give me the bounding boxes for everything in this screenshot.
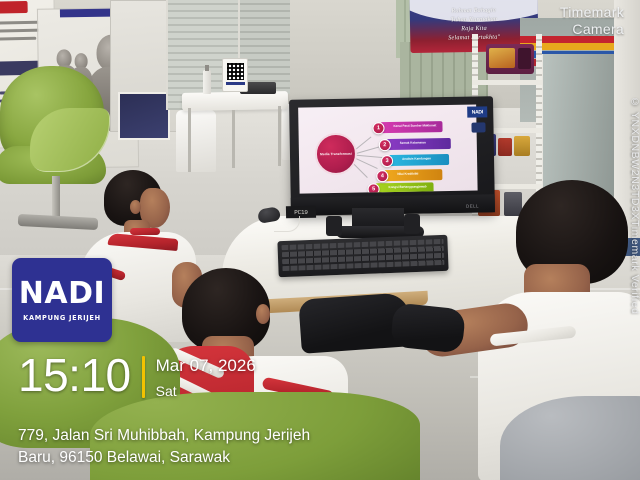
diagram-connector	[355, 155, 383, 158]
photo-scene: Rahmat Bahagia Tuhan Kurniakan Raja Kita…	[0, 0, 640, 480]
verified-label: Timemark Verified	[629, 220, 640, 314]
screenshot-root: Rahmat Bahagia Tuhan Kurniakan Raja Kita…	[0, 0, 640, 480]
ear	[130, 200, 141, 214]
time-value: 15:10	[18, 352, 131, 398]
chair-gas-stem	[52, 176, 60, 220]
watermark-line-2: Camera	[560, 21, 624, 38]
white-chair	[176, 110, 216, 172]
timestamp-overlay: 15:10 Mar 07, 2026 Sat	[18, 352, 618, 400]
diagram-branch-label: Kenal Pasti Sumber Maklumat	[393, 123, 440, 128]
copyright-code: © YNXDNBW2N3TD3X	[629, 96, 640, 220]
nadi-logo-subtitle: KAMPUNG JERIJEH	[23, 314, 101, 322]
table-leg	[232, 110, 235, 168]
poster-text-line	[0, 37, 36, 41]
hand-sanitizer-bottle	[203, 70, 211, 94]
table-leg	[188, 108, 191, 172]
diagram-branch-label: Nilai Kredibiliti	[397, 171, 440, 176]
diagram-branch-label: Semak Kebenaran	[400, 140, 449, 145]
poster-accent	[0, 1, 28, 14]
diagram-branch: Kenal Pasti Sumber Maklumat	[380, 121, 442, 133]
timemark-verified-strip: © YNXDNBW2N3TD3XTimemark Verified	[629, 96, 640, 315]
ear	[256, 304, 270, 324]
diagram-branch: Analisis Kandungan	[389, 154, 449, 166]
shelf-product	[514, 136, 530, 156]
microwave-panel	[518, 48, 531, 69]
timemark-watermark-brand: Timemark Camera	[560, 4, 624, 38]
speaker	[404, 214, 420, 234]
monitor-screen-logo: NADI	[467, 106, 487, 117]
watermark-line-1: Timemark	[560, 4, 624, 20]
day-of-week-value: Sat	[156, 383, 256, 400]
qr-code-icon	[227, 63, 244, 80]
diagram-branch-label: Analisis Kandungan	[402, 156, 447, 161]
speaker	[326, 216, 342, 236]
diagram-branch-number: 5	[367, 183, 379, 193]
diagram-branch: Semak Kebenaran	[387, 138, 451, 150]
trousers	[390, 302, 466, 353]
shelf-board	[472, 80, 542, 85]
nadi-logo-badge: NADI KAMPUNG JERIJEH	[12, 258, 112, 342]
date-value: Mar 07, 2026	[156, 356, 256, 375]
qr-code-stand	[222, 58, 248, 92]
white-table	[182, 91, 288, 111]
microwave-window	[489, 48, 515, 68]
address-overlay: 779, Jalan Sri Muhibbah, Kampung Jerijeh…	[18, 425, 558, 469]
nadi-logo-title: NADI	[19, 279, 105, 309]
qr-caption-bar	[226, 82, 245, 85]
microwave-oven	[486, 44, 534, 74]
monitor-screen-badge	[471, 122, 485, 132]
address-line-1: 779, Jalan Sri Muhibbah, Kampung Jerijeh	[18, 427, 310, 444]
diagram-hub: Media Transformasi	[315, 133, 358, 176]
address-line-2: Baru, 96150 Belawai, Sarawak	[18, 447, 558, 469]
shirt-trim	[130, 228, 160, 235]
stamp-divider	[142, 356, 145, 398]
wall-placard	[118, 92, 170, 140]
poster-text-line	[0, 29, 42, 33]
table-leg	[278, 106, 281, 166]
diagram-hub-label: Media Transformasi	[317, 152, 355, 157]
shelf-product	[498, 138, 512, 156]
